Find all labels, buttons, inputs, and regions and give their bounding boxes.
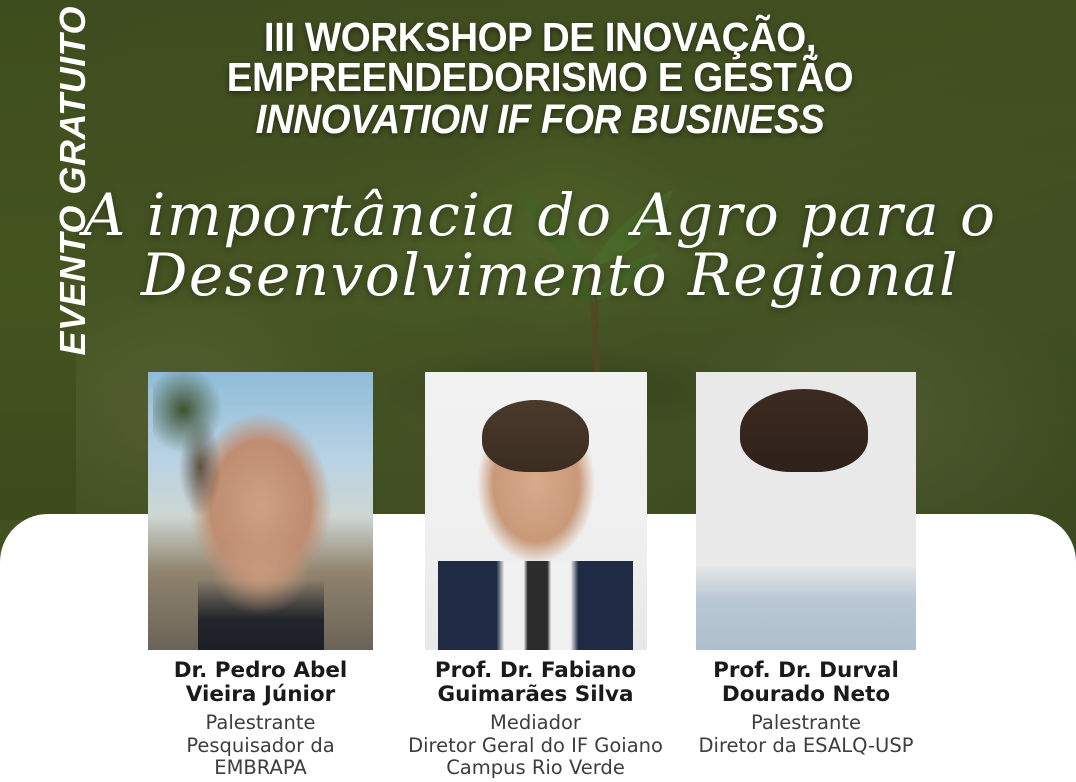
speaker-list: Dr. Pedro Abel Vieira Júnior Palestrante… <box>0 372 1076 782</box>
subtitle-script: A importância do Agro para o Desenvolvim… <box>70 186 1010 305</box>
headline-line-1: III WORKSHOP DE INOVAÇÃO, <box>117 18 963 58</box>
speaker-name: Prof. Dr. Durval Dourado Neto <box>672 659 940 707</box>
page-title: III WORKSHOP DE INOVAÇÃO, EMPREENDEDORIS… <box>90 18 990 139</box>
speaker-photo-3 <box>696 372 916 650</box>
speaker-card: Prof. Dr. Durval Dourado Neto Palestrant… <box>672 372 940 757</box>
avatar <box>148 372 373 650</box>
speaker-card: Dr. Pedro Abel Vieira Júnior Palestrante… <box>128 372 393 780</box>
speaker-role-line-3: Campus Rio Verde <box>403 757 668 780</box>
avatar <box>425 372 647 650</box>
avatar <box>696 372 916 650</box>
event-poster: EVENTO GRATUITO III WORKSHOP DE INOVAÇÃO… <box>0 0 1076 782</box>
speaker-role-line-2: Diretor Geral do IF Goiano <box>403 735 668 758</box>
speaker-role-line-1: Palestrante <box>672 712 940 735</box>
speaker-name-line-1: Prof. Dr. Fabiano <box>403 659 668 683</box>
evento-gratuito-banner: EVENTO GRATUITO <box>0 0 76 400</box>
speaker-role-line-3: EMBRAPA <box>128 757 393 780</box>
speaker-role: Mediador Diretor Geral do IF Goiano Camp… <box>403 712 668 780</box>
speaker-card: Prof. Dr. Fabiano Guimarães Silva Mediad… <box>403 372 668 780</box>
headline-line-2: EMPREENDEDORISMO E GESTÃO <box>117 58 963 98</box>
speaker-role: Palestrante Diretor da ESALQ-USP <box>672 712 940 757</box>
speaker-role-line-2: Pesquisador da <box>128 735 393 758</box>
speaker-role: Palestrante Pesquisador da EMBRAPA <box>128 712 393 780</box>
subtitle-line-1: A importância do Agro para o <box>70 186 1010 246</box>
headline-line-3: INNOVATION IF FOR BUSINESS <box>117 100 963 140</box>
speaker-name-line-2: Vieira Júnior <box>128 683 393 707</box>
speaker-role-line-1: Mediador <box>403 712 668 735</box>
speaker-name-line-1: Prof. Dr. Durval <box>672 659 940 683</box>
speaker-name-line-1: Dr. Pedro Abel <box>128 659 393 683</box>
speaker-role-line-1: Palestrante <box>128 712 393 735</box>
speaker-photo-1 <box>148 372 373 650</box>
speaker-name: Prof. Dr. Fabiano Guimarães Silva <box>403 659 668 707</box>
speaker-name-line-2: Guimarães Silva <box>403 683 668 707</box>
subtitle-line-2: Desenvolvimento Regional <box>70 246 1010 306</box>
speaker-role-line-2: Diretor da ESALQ-USP <box>672 735 940 758</box>
speaker-name-line-2: Dourado Neto <box>672 683 940 707</box>
speaker-name: Dr. Pedro Abel Vieira Júnior <box>128 659 393 707</box>
speaker-photo-2 <box>425 372 647 650</box>
